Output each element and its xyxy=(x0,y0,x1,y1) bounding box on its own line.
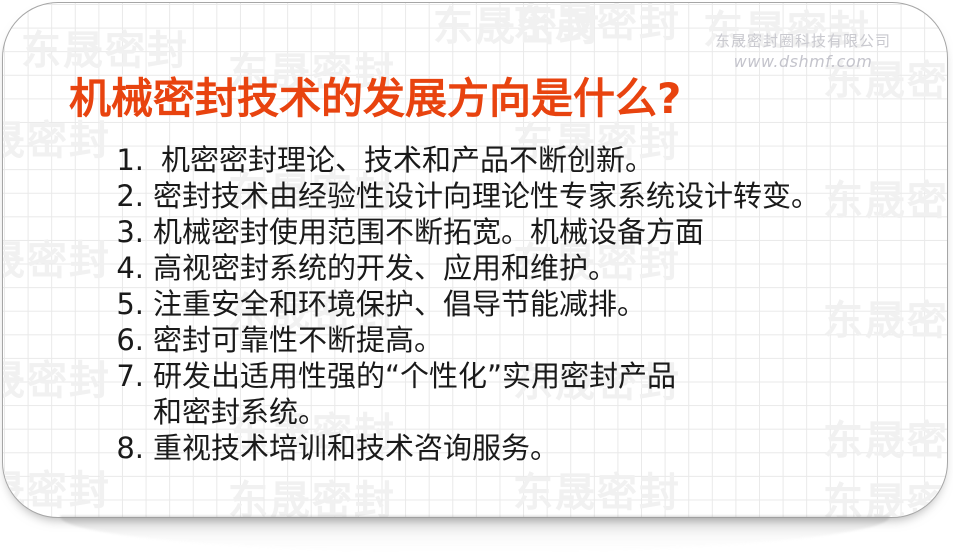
list-item-text: 注重安全和环境保护、倡导节能减排。 xyxy=(153,287,646,322)
list-item: 5.注重安全和环境保护、倡导节能减排。 xyxy=(116,287,916,322)
watermark-website-url: www.dshmf.com xyxy=(715,53,891,71)
list-item: 7.研发出适用性强的“个性化”实用密封产品 xyxy=(116,359,916,394)
slide-canvas: 东晟密封东晟密封东晟密封东晟密封东晟密封东晟密封东晟密封东晟密封东晟密封东晟密封… xyxy=(0,0,953,555)
list-item-text: 高视密封系统的开发、应用和维护。 xyxy=(153,251,617,286)
list-item-number: 4. xyxy=(116,251,144,286)
background-watermark-text: 东晟密封 xyxy=(823,483,947,517)
list-item-number: 1. xyxy=(116,143,144,178)
list-item-text: 密封技术由经验性设计向理论性专家系统设计转变。 xyxy=(153,179,820,214)
list-item: 6.密封可靠性不断提高。 xyxy=(116,323,916,358)
list-item-text: 重视技术培训和技术咨询服务。 xyxy=(153,431,559,466)
list-item-continuation: 和密封系统。 xyxy=(116,395,916,430)
background-watermark-text: 东晟密封 xyxy=(703,11,871,51)
corporate-watermark: 东晟密封圈科技有限公司 www.dshmf.com xyxy=(715,33,891,70)
list-item-continuation-spacer xyxy=(116,395,153,430)
list-item: 2.密封技术由经验性设计向理论性专家系统设计转变。 xyxy=(116,179,916,214)
card-drop-shadow xyxy=(60,516,890,552)
background-watermark-text: 东晟密封 xyxy=(513,3,681,43)
background-watermark-text: 东晟密封 xyxy=(228,481,396,517)
list-item-text: 密封可靠性不断提高。 xyxy=(153,323,443,358)
background-watermark-text: 东晟密封 xyxy=(433,7,601,47)
background-watermark-text: 东晟密封 xyxy=(3,471,111,511)
list-item: 3.机械密封使用范围不断拓宽。机械设备方面 xyxy=(116,215,916,250)
slide-card: 东晟密封东晟密封东晟密封东晟密封东晟密封东晟密封东晟密封东晟密封东晟密封东晟密封… xyxy=(2,2,948,518)
list-item-number: 3. xyxy=(116,215,144,250)
background-watermark-text: 东晟密封 xyxy=(513,473,681,513)
watermark-company-name: 东晟密封圈科技有限公司 xyxy=(715,33,891,50)
background-watermark-text: 东晟密封 xyxy=(823,61,947,101)
background-watermark-text: 东晟密封 xyxy=(3,361,111,401)
background-watermark-text: 东晟密封 xyxy=(3,241,111,281)
slide-title: 机械密封技术的发展方向是什么? xyxy=(69,77,681,121)
list-item-number: 5. xyxy=(116,287,144,322)
list-item-number: 7. xyxy=(116,359,144,394)
list-item: 8.重视技术培训和技术咨询服务。 xyxy=(116,431,916,466)
background-watermark-text: 东晟密封 xyxy=(3,121,111,161)
list-item: 4.高视密封系统的开发、应用和维护。 xyxy=(116,251,916,286)
list-item-continuation-text: 和密封系统。 xyxy=(153,395,327,430)
list-item-number: 6. xyxy=(116,323,144,358)
list-item-text: 机密密封理论、技术和产品不断创新。 xyxy=(161,143,654,178)
list-item-number: 2. xyxy=(116,179,144,214)
numbered-list: 1.机密密封理论、技术和产品不断创新。2.密封技术由经验性设计向理论性专家系统设… xyxy=(116,143,916,467)
list-item: 1.机密密封理论、技术和产品不断创新。 xyxy=(116,143,916,178)
list-item-number: 8. xyxy=(116,431,144,466)
list-item-text: 机械密封使用范围不断拓宽。机械设备方面 xyxy=(153,215,704,250)
background-watermark-text: 东晟密封 xyxy=(21,31,189,71)
list-item-text: 研发出适用性强的“个性化”实用密封产品 xyxy=(153,359,676,394)
